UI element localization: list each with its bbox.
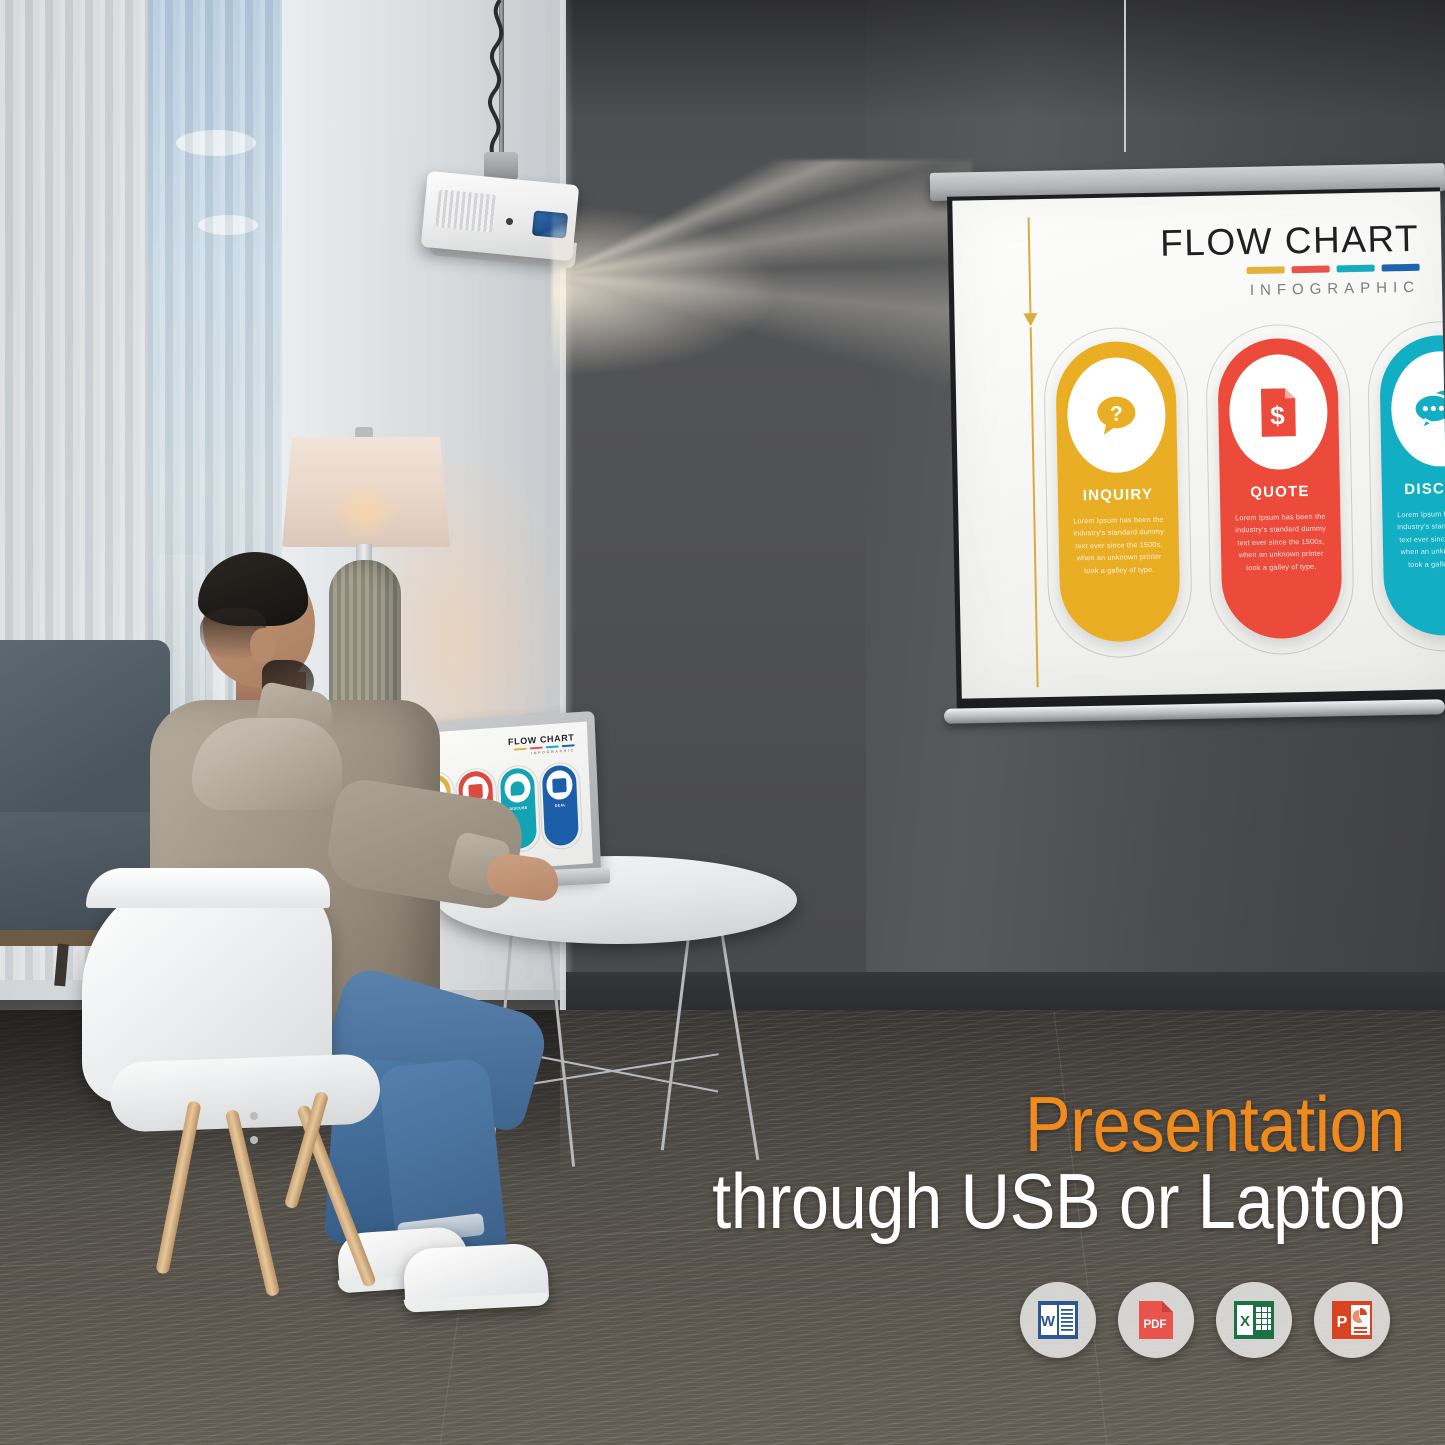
- svg-text:?: ?: [1110, 402, 1123, 425]
- slide-title: FLOW CHART: [1160, 220, 1420, 262]
- card-label: QUOTE: [1250, 483, 1310, 501]
- card-label: DISCUSS: [1404, 480, 1445, 498]
- swatch-blue: [562, 744, 575, 747]
- slide-content: FLOW CHART INFOGRAPHIC: [952, 191, 1445, 698]
- swatch-red: [1292, 265, 1330, 273]
- card-description: Lorem Ipsum has been the industry's stan…: [1232, 511, 1329, 575]
- product-marketing-image: FLOW CHART INFOGRAPHIC: [0, 0, 1445, 1445]
- question-bubble-icon: ?: [1090, 389, 1143, 442]
- badge-excel: X: [1216, 1282, 1292, 1358]
- chair-rim: [86, 868, 330, 908]
- marketing-headline: Presentation through USB or Laptop: [0, 1086, 1405, 1242]
- swatch-red: [530, 747, 543, 750]
- card-body: DEAL: [542, 764, 579, 846]
- card-description: Lorem Ipsum has been the industry's stan…: [1394, 507, 1445, 571]
- slide-header: FLOW CHART INFOGRAPHIC: [1160, 220, 1420, 301]
- headline-line-1: Presentation: [169, 1086, 1405, 1162]
- card-body: DISCUSS Lorem Ipsum has been the industr…: [1379, 334, 1445, 636]
- card-label: INQUIRY: [1083, 486, 1154, 504]
- card-label: DEAL: [555, 803, 566, 808]
- flow-arrow-line: [1030, 327, 1039, 687]
- svg-text:W: W: [1041, 1313, 1056, 1330]
- screen-suspension-wire: [1124, 0, 1126, 152]
- swatch-teal: [546, 745, 559, 748]
- headline-line-2: through USB or Laptop: [169, 1162, 1405, 1242]
- file-format-badge-row: W PDF X: [1020, 1282, 1390, 1358]
- card-icon-ring: [504, 773, 531, 804]
- word-icon: W: [1035, 1297, 1081, 1343]
- flow-card-inquiry: ? INQUIRY Lorem Ipsum has been the indus…: [1055, 340, 1181, 642]
- excel-icon: X: [1231, 1297, 1277, 1343]
- card-icon-ring: ?: [1066, 357, 1166, 474]
- chat-bubbles-icon: [1412, 384, 1445, 433]
- sofa-backrest: [0, 640, 170, 840]
- flow-arrow-line: [1028, 217, 1032, 317]
- person-shoulder: [192, 718, 342, 810]
- slide-swatch-row: [1161, 264, 1420, 276]
- badge-pdf: PDF: [1118, 1282, 1194, 1358]
- ceiling-shadow: [566, 0, 1445, 120]
- laptop-card-deal: DEAL: [542, 764, 579, 846]
- card-label: DISCUSS: [509, 806, 527, 811]
- swatch-yellow: [514, 748, 527, 751]
- card-body: $ QUOTE Lorem Ipsum has been the industr…: [1217, 337, 1343, 639]
- flow-card-discuss: DISCUSS Lorem Ipsum has been the industr…: [1379, 334, 1445, 636]
- card-description: Lorem Ipsum has been the industry's stan…: [1070, 514, 1167, 578]
- projector-lens: [532, 210, 568, 238]
- flow-card-row: ? INQUIRY Lorem Ipsum has been the indus…: [1055, 334, 1445, 642]
- handshake-icon: [552, 777, 567, 792]
- powerpoint-icon: P: [1329, 1297, 1375, 1343]
- card-icon-ring: [546, 770, 573, 801]
- lamp-glow: [330, 480, 400, 542]
- person-ear: [250, 628, 276, 662]
- badge-powerpoint: P: [1314, 1282, 1390, 1358]
- projector-vent-grille: [435, 189, 496, 232]
- badge-word: W: [1020, 1282, 1096, 1358]
- card-icon-ring: [1390, 350, 1445, 467]
- projection-screen: FLOW CHART INFOGRAPHIC: [952, 191, 1445, 698]
- flow-arrow-head-icon: [1023, 313, 1037, 326]
- svg-text:X: X: [1240, 1313, 1250, 1330]
- pdf-icon: PDF: [1134, 1297, 1178, 1343]
- svg-text:P: P: [1337, 1314, 1348, 1331]
- laptop-slide-title: FLOW CHART INFOGRAPHIC: [508, 732, 575, 757]
- dollar-document-icon: $: [1255, 385, 1302, 440]
- svg-text:PDF: PDF: [1144, 1319, 1167, 1331]
- card-icon-ring: $: [1228, 354, 1328, 471]
- swatch-blue: [1382, 264, 1420, 272]
- slide-subtitle: INFOGRAPHIC: [1161, 279, 1420, 301]
- card-body: ? INQUIRY Lorem Ipsum has been the indus…: [1055, 340, 1181, 642]
- svg-text:$: $: [1270, 400, 1286, 430]
- swatch-yellow: [1247, 266, 1285, 274]
- flow-card-quote: $ QUOTE Lorem Ipsum has been the industr…: [1217, 337, 1343, 639]
- chat-bubbles-icon: [510, 780, 525, 795]
- swatch-teal: [1337, 265, 1375, 273]
